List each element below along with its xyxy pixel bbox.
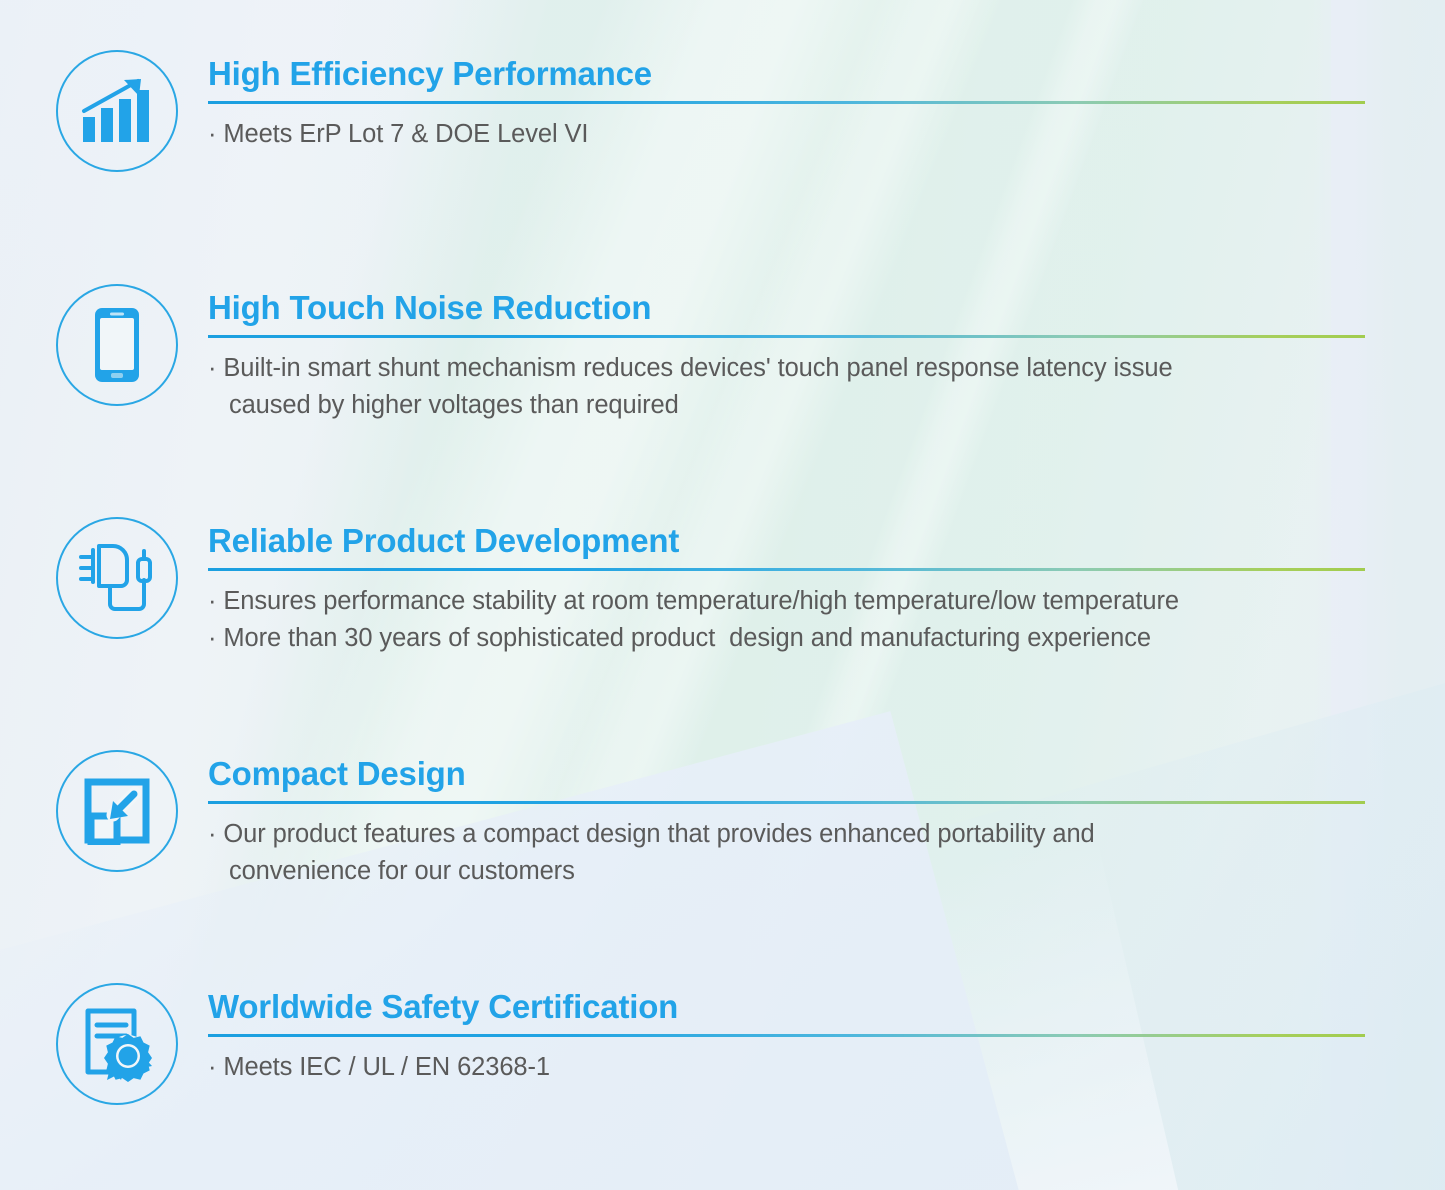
feature-divider (208, 568, 1365, 571)
feature-body: High Efficiency Performance · Meets ErP … (208, 56, 1368, 153)
feature-description: · Ensures performance stability at room … (208, 583, 1368, 657)
feature-title: High Efficiency Performance (208, 56, 1368, 92)
feature-bullet: · Meets IEC / UL / EN 62368-1 (208, 1049, 1368, 1086)
feature-divider (208, 1034, 1365, 1037)
feature-body: Compact Design · Our product features a … (208, 756, 1368, 890)
feature-body: Reliable Product Development · Ensures p… (208, 523, 1368, 657)
feature-bullet: · Meets ErP Lot 7 & DOE Level VI (208, 116, 1368, 153)
feature-body: Worldwide Safety Certification · Meets I… (208, 989, 1368, 1086)
feature-list: High Efficiency Performance · Meets ErP … (0, 0, 1445, 1190)
compact-resize-icon (56, 750, 178, 872)
feature-divider (208, 101, 1365, 104)
bar-chart-growth-icon (56, 50, 178, 172)
certificate-award-icon (56, 983, 178, 1105)
feature-title: High Touch Noise Reduction (208, 290, 1368, 326)
feature-title: Worldwide Safety Certification (208, 989, 1368, 1025)
feature-description: · Our product features a compact design … (208, 816, 1368, 890)
feature-divider (208, 801, 1365, 804)
feature-description: · Meets ErP Lot 7 & DOE Level VI (208, 116, 1368, 153)
feature-description: · Built-in smart shunt mechanism reduces… (208, 350, 1368, 424)
feature-title: Reliable Product Development (208, 523, 1368, 559)
smartphone-icon (56, 284, 178, 406)
feature-bullet: · Ensures performance stability at room … (208, 583, 1368, 620)
feature-title: Compact Design (208, 756, 1368, 792)
feature-bullet: · Our product features a compact design … (208, 816, 1368, 890)
power-adapter-icon (56, 517, 178, 639)
feature-bullet: · Built-in smart shunt mechanism reduces… (208, 350, 1368, 424)
feature-bullet: · More than 30 years of sophisticated pr… (208, 620, 1368, 657)
feature-body: High Touch Noise Reduction · Built-in sm… (208, 290, 1368, 424)
feature-description: · Meets IEC / UL / EN 62368-1 (208, 1049, 1368, 1086)
feature-divider (208, 335, 1365, 338)
